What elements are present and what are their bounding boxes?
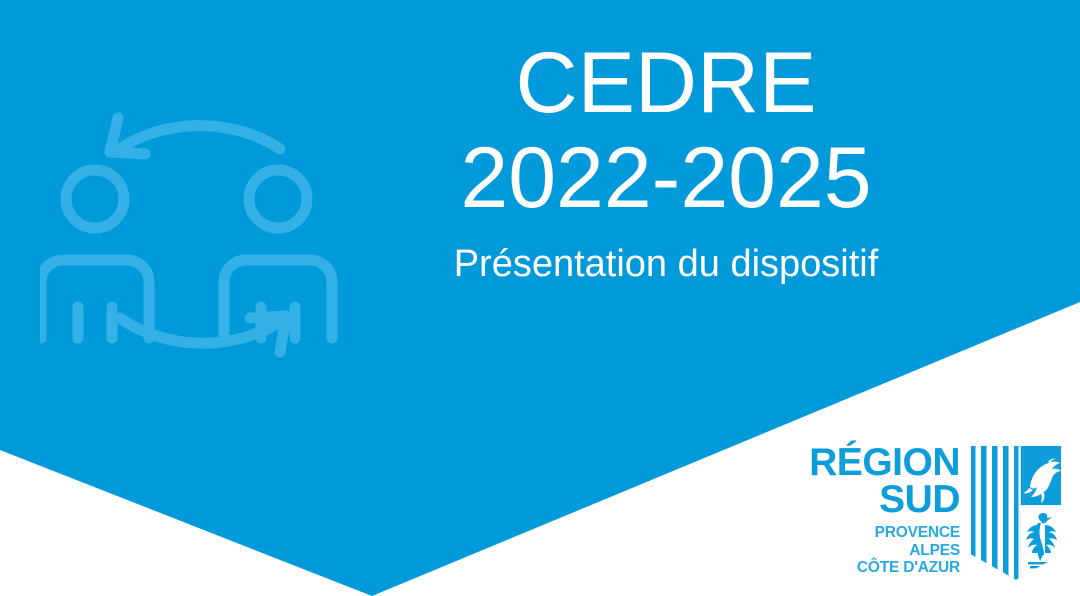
logo-wordmark: RÉGION SUD PROVENCE ALPES CÔTE D'AZUR (792, 443, 960, 576)
logo-subtitle-line2: ALPES (792, 542, 960, 559)
title-block: CEDRE 2022-2025 Présentation du disposit… (360, 36, 972, 287)
slide-canvas: CEDRE 2022-2025 Présentation du disposit… (0, 0, 1080, 596)
logo-subtitle-line1: PROVENCE (792, 524, 960, 541)
arrow-curve-left-icon (115, 126, 280, 152)
page-title-line1: CEDRE (360, 36, 972, 131)
logo-subtitle-line3: CÔTE D'AZUR (792, 559, 960, 576)
region-sud-logo: RÉGION SUD PROVENCE ALPES CÔTE D'AZUR (792, 443, 1064, 583)
logo-sud-text: SUD (792, 482, 960, 519)
people-exchange-icon (40, 92, 360, 378)
region-sud-coat-of-arms-icon (968, 443, 1064, 583)
page-subtitle: Présentation du dispositif (360, 243, 972, 287)
page-title-line2: 2022-2025 (360, 131, 972, 226)
person-icon (41, 170, 149, 338)
logo-region-text: RÉGION (792, 445, 960, 482)
shield-divider (1019, 443, 1021, 583)
logo-subtitle: PROVENCE ALPES CÔTE D'AZUR (792, 524, 960, 576)
